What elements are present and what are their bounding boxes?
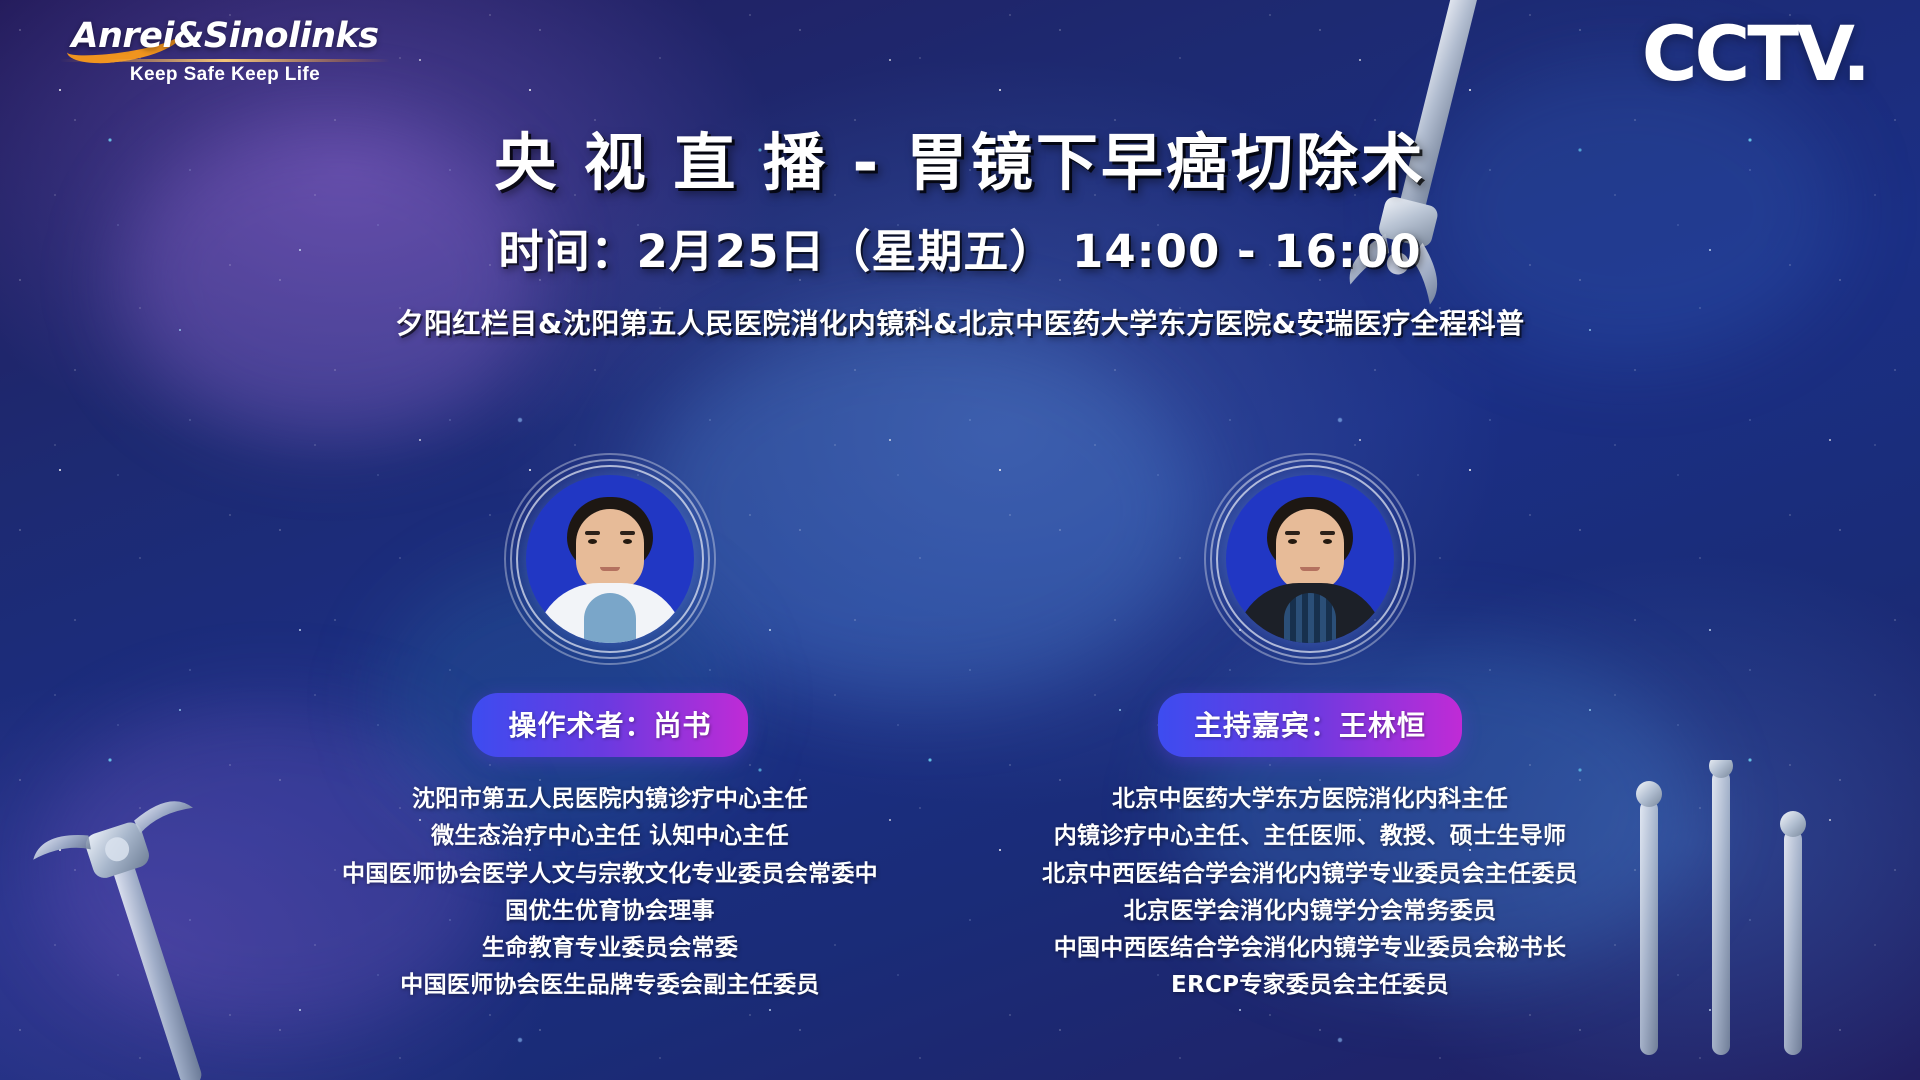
avatar-photo-operator: [526, 475, 694, 643]
list-item: 生命教育专业委员会常委: [342, 930, 878, 967]
organizers-line: 夕阳红栏目&沈阳第五人民医院消化内镜科&北京中医药大学东方医院&安瑞医疗全程科普: [0, 302, 1920, 342]
sponsor-name-text: Anrei&Sinolinks: [71, 16, 378, 56]
event-time: 时间：2月25日（星期五） 14:00 - 16:00: [0, 215, 1920, 280]
list-item: 微生态治疗中心主任 认知中心主任: [342, 818, 878, 855]
sponsor-name: Anrei&Sinolinks: [60, 16, 390, 56]
list-item: 北京中西医结合学会消化内镜学专业委员会主任委员: [1042, 856, 1578, 893]
avatar: [1206, 455, 1414, 663]
sponsor-logo: Anrei&Sinolinks Keep Safe Keep Life: [60, 16, 390, 86]
list-item: ERCP专家委员会主任委员: [1042, 967, 1578, 1004]
list-item: 中国医师协会医生品牌专委会副主任委员: [342, 967, 878, 1004]
list-item: 中国中西医结合学会消化内镜学专业委员会秘书长: [1042, 930, 1578, 967]
divider: [60, 59, 390, 62]
speaker-name-badge: 操作术者：尚书: [472, 693, 747, 757]
avatar-photo-host: [1226, 475, 1394, 643]
list-item: 中国医师协会医学人文与宗教文化专业委员会常委中: [342, 856, 878, 893]
speaker-credentials: 北京中医药大学东方医院消化内科主任 内镜诊疗中心主任、主任医师、教授、硕士生导师…: [1042, 781, 1578, 1005]
speaker-card-operator: 操作术者：尚书 沈阳市第五人民医院内镜诊疗中心主任 微生态治疗中心主任 认知中心…: [260, 455, 960, 1005]
list-item: 北京医学会消化内镜学分会常务委员: [1042, 893, 1578, 930]
sponsor-tagline: Keep Safe Keep Life: [60, 64, 390, 86]
list-item: 内镜诊疗中心主任、主任医师、教授、硕士生导师: [1042, 818, 1578, 855]
speaker-credentials: 沈阳市第五人民医院内镜诊疗中心主任 微生态治疗中心主任 认知中心主任 中国医师协…: [342, 781, 878, 1005]
avatar: [506, 455, 714, 663]
headline-block: 央 视 直 播 - 胃镜下早癌切除术 时间：2月25日（星期五） 14:00 -…: [0, 128, 1920, 342]
list-item: 国优生优育协会理事: [342, 893, 878, 930]
speaker-name-badge: 主持嘉宾：王林恒: [1158, 693, 1462, 757]
speakers-section: 操作术者：尚书 沈阳市第五人民医院内镜诊疗中心主任 微生态治疗中心主任 认知中心…: [0, 455, 1920, 1005]
page-title: 央 视 直 播 - 胃镜下早癌切除术: [0, 128, 1920, 197]
poster-canvas: Anrei&Sinolinks Keep Safe Keep Life CCTV…: [0, 0, 1920, 1080]
list-item: 沈阳市第五人民医院内镜诊疗中心主任: [342, 781, 878, 818]
cctv-logo: CCTV.: [1642, 16, 1868, 92]
list-item: 北京中医药大学东方医院消化内科主任: [1042, 781, 1578, 818]
speaker-card-host: 主持嘉宾：王林恒 北京中医药大学东方医院消化内科主任 内镜诊疗中心主任、主任医师…: [960, 455, 1660, 1005]
